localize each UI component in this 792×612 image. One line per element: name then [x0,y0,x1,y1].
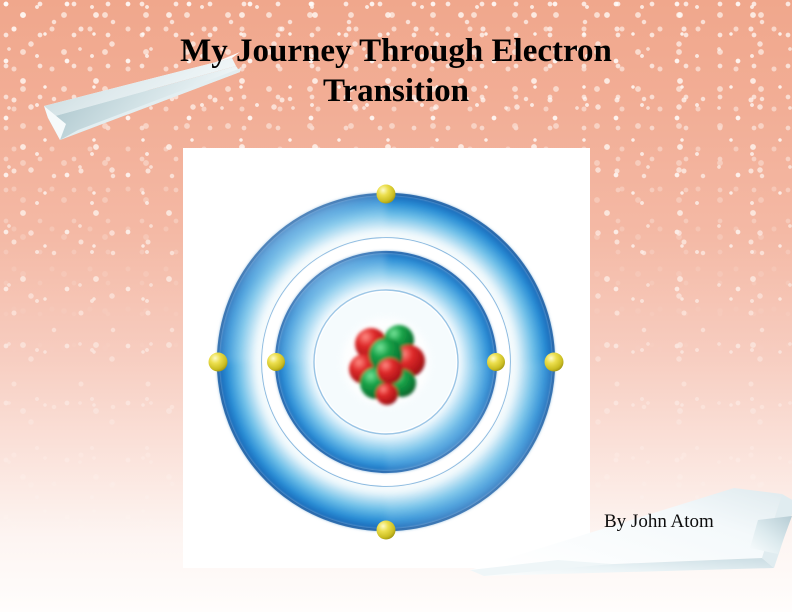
bohr-atom-diagram [183,148,590,568]
title-line-1: My Journey Through Electron [96,31,696,71]
electron-inner-left [267,353,285,371]
page-title: My Journey Through Electron Transition [96,31,696,111]
presentation-slide: My Journey Through Electron Transition B… [0,0,792,612]
author-byline: By John Atom [604,511,714,533]
electron-outer-top [377,185,396,204]
electron-outer-bottom [377,521,396,540]
electron-outer-right [545,353,564,372]
electron-inner-right [487,353,505,371]
electron-outer-left [209,353,228,372]
title-line-2: Transition [96,71,696,111]
atom-image-panel [183,148,590,568]
